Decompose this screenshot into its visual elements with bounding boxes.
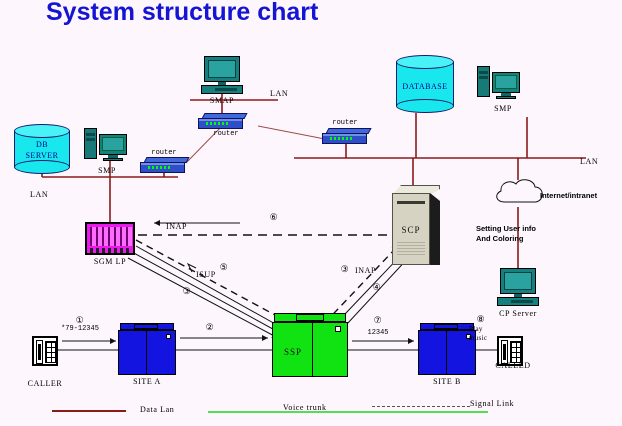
legend-label-data-lan: Data Lan	[140, 405, 174, 414]
legend-swatch-voice-trunk	[208, 411, 488, 413]
screen	[495, 75, 517, 89]
cylinder-bottom	[14, 160, 70, 174]
legend-label-signal-link: Signal Link	[470, 399, 514, 408]
flow-marker-8: ⑧	[477, 314, 486, 325]
ssp-led	[335, 326, 341, 332]
flow-marker-2: ②	[206, 322, 215, 333]
rack-ports	[90, 248, 132, 253]
cp-server-label: CP Server	[499, 309, 537, 318]
smap-label: SMAP	[210, 96, 234, 105]
cylinder-bottom	[396, 99, 454, 113]
site-handle	[134, 324, 158, 329]
router-mid-label: router	[213, 130, 238, 138]
caller-label: CALLER	[28, 379, 63, 388]
db-server-label-line2: SERVER	[14, 151, 70, 160]
monitor-base	[103, 158, 123, 161]
db-server-label-line1: DB	[14, 140, 70, 149]
site-divider	[146, 331, 147, 374]
drive-slot	[215, 88, 237, 91]
scp-slot	[397, 201, 425, 204]
site-led	[166, 334, 171, 339]
legend-swatch-data-lan	[52, 410, 126, 412]
tower-bay	[479, 71, 488, 74]
database-node[interactable]: DATABASE	[396, 55, 454, 115]
user-setting-note-line2: And Coloring	[476, 234, 524, 243]
screen	[504, 272, 532, 290]
site-handle	[434, 324, 458, 329]
inap-label-right: INAP	[355, 266, 376, 275]
smp-right-node[interactable]	[477, 66, 523, 100]
tower-bay	[479, 76, 488, 79]
scp-label: SCP	[392, 225, 430, 235]
scp-node[interactable]: SCP	[392, 185, 440, 265]
screen	[102, 137, 124, 151]
router-leds	[330, 137, 352, 140]
lan-label-mid: LAN	[270, 89, 288, 98]
site-divider	[446, 331, 447, 374]
cylinder-top	[396, 55, 454, 69]
monitor-base	[496, 96, 516, 99]
flow-text-8-line2: music	[469, 334, 487, 342]
site-a-node[interactable]	[118, 323, 176, 375]
tower-bay	[86, 133, 95, 136]
flow-marker-7: ⑦	[374, 315, 383, 326]
legend-label-voice-trunk: Voice trunk	[283, 403, 327, 412]
caller-phone-node[interactable]	[32, 336, 58, 366]
handset-icon	[36, 340, 43, 364]
router-leds	[206, 122, 228, 125]
scp-side	[430, 193, 440, 265]
ssp-node[interactable]: SSP	[272, 313, 348, 377]
scp-vents	[397, 242, 425, 255]
site-b-label: SITE B	[433, 377, 461, 386]
diagram-canvas: System structure chart DB SERVER DATABAS…	[0, 0, 622, 426]
sgm-node[interactable]	[85, 222, 135, 255]
page-title: System structure chart	[46, 0, 318, 27]
router-right-node[interactable]	[322, 128, 370, 145]
smp-right-label: SMP	[494, 104, 512, 113]
flow-marker-5: ⑤	[220, 262, 229, 273]
router-mid-node[interactable]	[198, 113, 246, 130]
ssp-handle	[296, 314, 324, 321]
router-leds	[148, 166, 170, 169]
flow-marker-3: ③	[183, 286, 192, 297]
ssp-label: SSP	[272, 347, 314, 357]
flow-marker-4: ④	[373, 282, 382, 293]
database-label: DATABASE	[396, 82, 454, 91]
keypad-icon	[45, 341, 56, 363]
site-a-label: SITE A	[133, 377, 161, 386]
lan-label-left: LAN	[30, 190, 48, 199]
smap-node[interactable]	[201, 56, 243, 94]
cylinder-top	[14, 124, 70, 138]
flow-text-7: 12345	[367, 329, 388, 337]
router-right-label: router	[332, 119, 357, 127]
flow-text-8-line1: Play	[469, 325, 483, 333]
db-server-node[interactable]: DB SERVER	[14, 124, 70, 174]
flow-text-1: *79-12345	[61, 325, 99, 333]
smp-left-node[interactable]	[84, 128, 130, 162]
site-b-node[interactable]	[418, 323, 476, 375]
legend-swatch-signal-link	[372, 406, 470, 407]
drive-slot	[511, 300, 533, 303]
screen	[208, 60, 236, 78]
lan-label-right: LAN	[580, 157, 598, 166]
smp-left-label: SMP	[98, 166, 116, 175]
user-setting-note-line1: Setting User info	[476, 224, 536, 233]
keypad-icon	[510, 341, 521, 363]
isup-label: ISUP	[196, 270, 216, 279]
flow-marker-3b: ③	[341, 264, 350, 275]
internet-cloud-label: Internet/intranet	[540, 191, 597, 200]
router-left-label: router	[151, 149, 176, 157]
inap-label-left: INAP	[166, 222, 187, 231]
called-label: CALLED	[495, 361, 530, 370]
flow-marker-6: ⑥	[270, 212, 279, 223]
sgm-label: SGM LP	[94, 257, 126, 266]
cp-server-node[interactable]	[497, 268, 539, 306]
router-left-node[interactable]	[140, 157, 188, 174]
tower-bay	[86, 138, 95, 141]
rack-cards	[90, 227, 132, 246]
